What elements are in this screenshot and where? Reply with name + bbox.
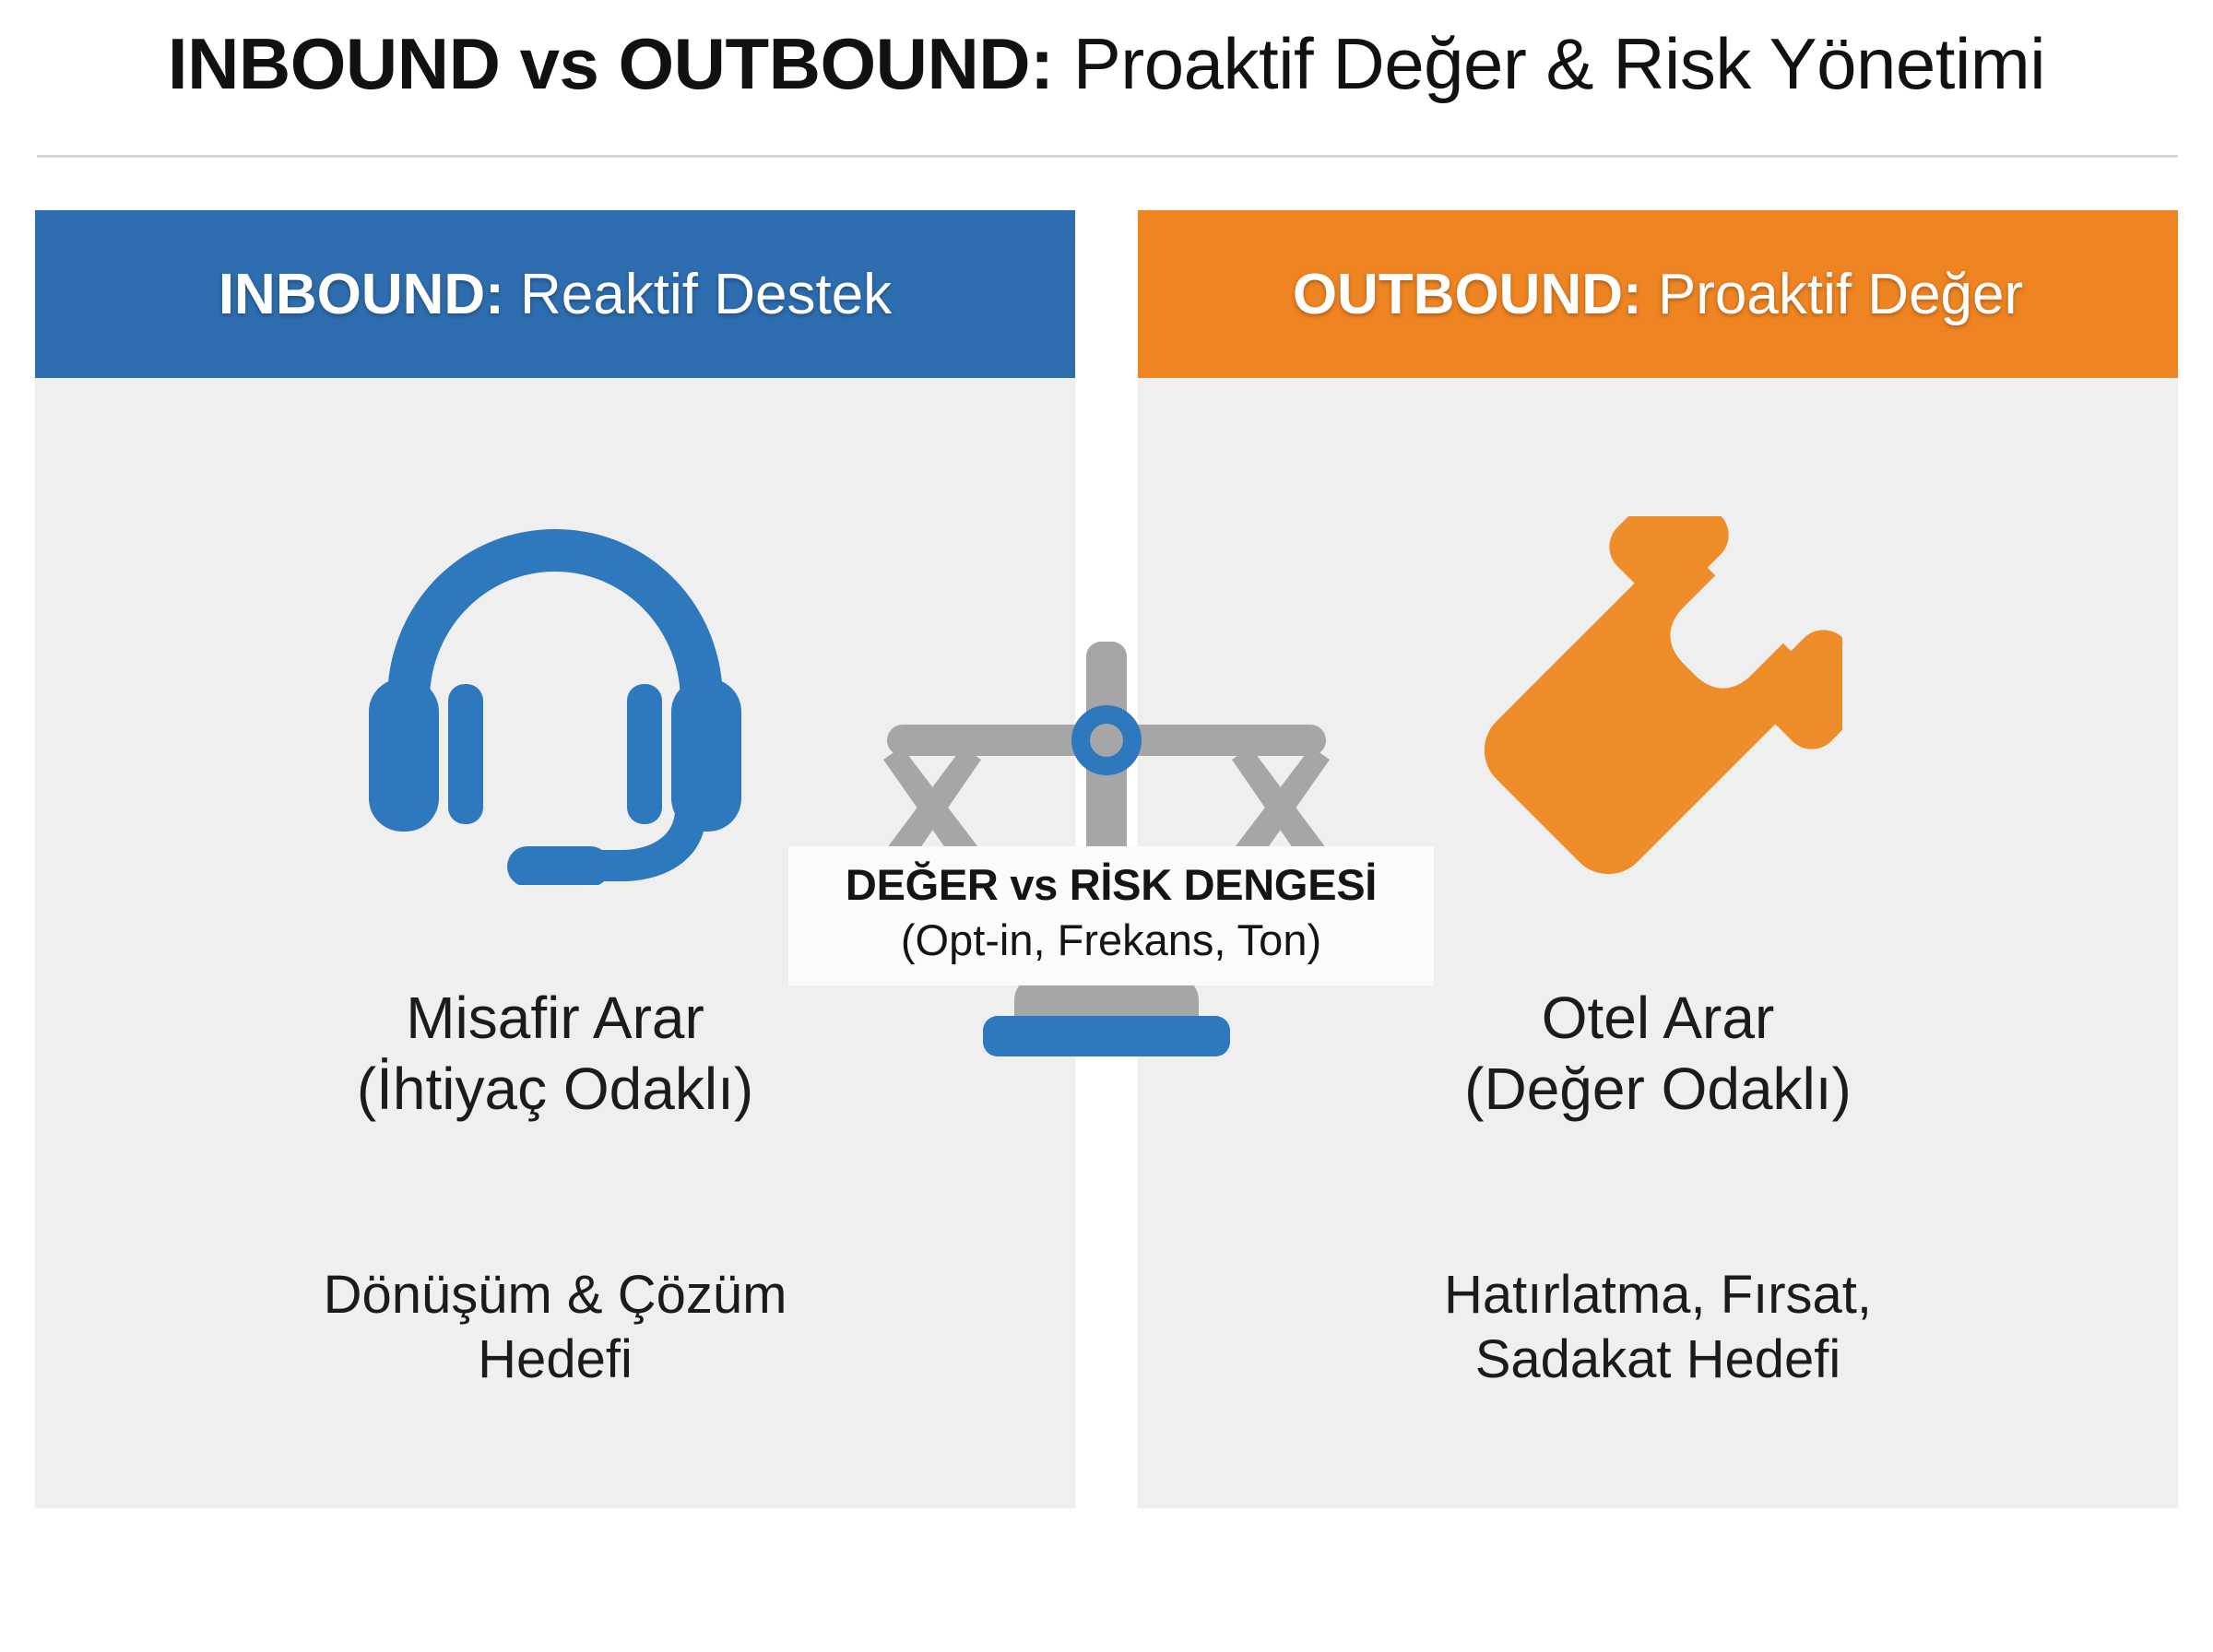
center-label-title: DEĞER vs RİSK DENGESİ <box>798 859 1425 910</box>
page-title-strong: INBOUND vs OUTBOUND: <box>168 23 1054 104</box>
center-label-box: DEĞER vs RİSK DENGESİ (Opt-in, Frekans, … <box>788 846 1434 985</box>
caption-line: Dönüşüm & Çözüm <box>72 1263 1038 1327</box>
panel-outbound-header-light: Proaktif Değer <box>1642 263 2024 326</box>
title-divider <box>37 155 2178 158</box>
headset-icon <box>338 507 772 894</box>
page-title: INBOUND vs OUTBOUND: Proaktif Değer & Ri… <box>0 26 2213 102</box>
panel-inbound-header-light: Reaktif Destek <box>504 263 892 326</box>
caption-line: Hedefi <box>72 1327 1038 1392</box>
panel-outbound-caption-secondary: Hatırlatma, Fırsat, Sadakat Hedefi <box>1138 1263 2178 1391</box>
page-title-light: Proaktif Değer & Risk Yönetimi <box>1054 23 2045 104</box>
panel-inbound-header-strong: INBOUND: <box>219 263 504 326</box>
phone-handset-icon <box>1441 507 1875 894</box>
infographic-page: INBOUND vs OUTBOUND: Proaktif Değer & Ri… <box>0 0 2213 1652</box>
panel-outbound-header: OUTBOUND: Proaktif Değer <box>1138 210 2178 378</box>
center-label-subtitle: (Opt-in, Frekans, Ton) <box>798 914 1425 966</box>
caption-line: Sadakat Hedefi <box>1175 1327 2141 1392</box>
panel-outbound-header-strong: OUTBOUND: <box>1293 263 1642 326</box>
caption-line: Hatırlatma, Fırsat, <box>1175 1263 2141 1327</box>
panel-inbound-caption-secondary: Dönüşüm & Çözüm Hedefi <box>35 1263 1075 1391</box>
panel-inbound-header: INBOUND: Reaktif Destek <box>35 210 1075 378</box>
